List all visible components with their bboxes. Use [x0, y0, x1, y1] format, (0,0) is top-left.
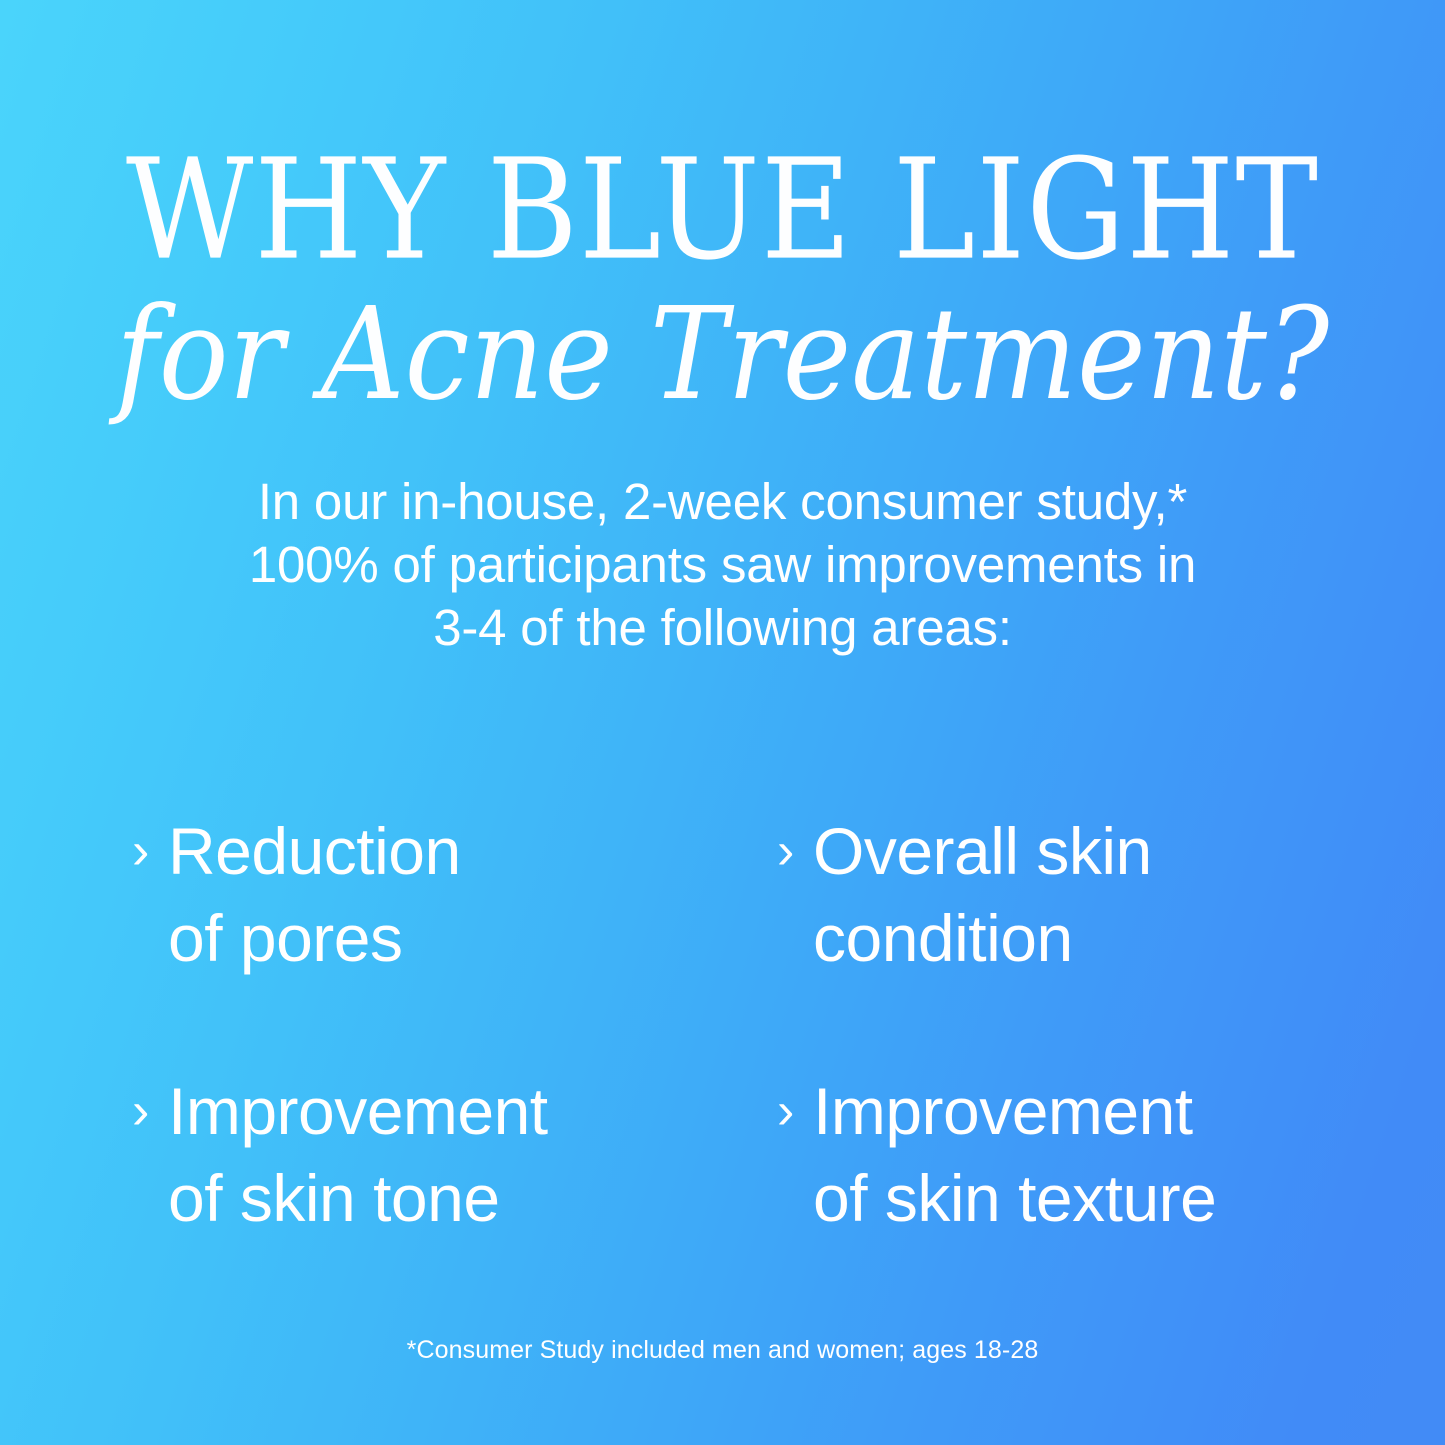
- benefit-line-2: of skin texture: [813, 1155, 1332, 1242]
- benefit-line-1: Improvement: [813, 1068, 1332, 1155]
- chevron-right-icon: ›: [777, 1068, 813, 1155]
- benefit-label: Overall skin condition: [813, 808, 1332, 982]
- benefit-line-2: condition: [813, 895, 1332, 982]
- chevron-right-icon: ›: [132, 1068, 168, 1155]
- benefits-grid: › Reduction of pores › Overall skin cond…: [132, 808, 1332, 1242]
- chevron-right-icon: ›: [132, 808, 168, 895]
- benefit-label: Reduction of pores: [168, 808, 777, 982]
- benefit-item-reduction-of-pores: › Reduction of pores: [132, 808, 777, 982]
- benefit-item-improvement-of-skin-tone: › Improvement of skin tone: [132, 1068, 777, 1242]
- headline-line-1: WHY BLUE LIGHT: [0, 140, 1445, 282]
- study-summary-line-1: In our in-house, 2-week consumer study,*: [0, 470, 1445, 533]
- benefit-label: Improvement of skin tone: [168, 1068, 777, 1242]
- benefit-line-1: Improvement: [168, 1068, 777, 1155]
- study-summary-text: In our in-house, 2-week consumer study,*…: [0, 470, 1445, 659]
- benefit-item-overall-skin-condition: › Overall skin condition: [777, 808, 1332, 982]
- benefit-line-2: of skin tone: [168, 1155, 777, 1242]
- benefit-line-2: of pores: [168, 895, 777, 982]
- benefit-item-improvement-of-skin-texture: › Improvement of skin texture: [777, 1068, 1332, 1242]
- footnote-disclaimer: *Consumer Study included men and women; …: [0, 1333, 1445, 1367]
- benefit-line-1: Overall skin: [813, 808, 1332, 895]
- headline-line-2: for Acne Treatment?: [0, 288, 1445, 422]
- promo-poster: WHY BLUE LIGHT for Acne Treatment? In ou…: [0, 0, 1445, 1445]
- study-summary-line-2: 100% of participants saw improvements in: [0, 533, 1445, 596]
- chevron-right-icon: ›: [777, 808, 813, 895]
- benefit-label: Improvement of skin texture: [813, 1068, 1332, 1242]
- page-title: WHY BLUE LIGHT for Acne Treatment?: [0, 140, 1445, 410]
- study-summary-line-3: 3-4 of the following areas:: [0, 596, 1445, 659]
- benefit-line-1: Reduction: [168, 808, 777, 895]
